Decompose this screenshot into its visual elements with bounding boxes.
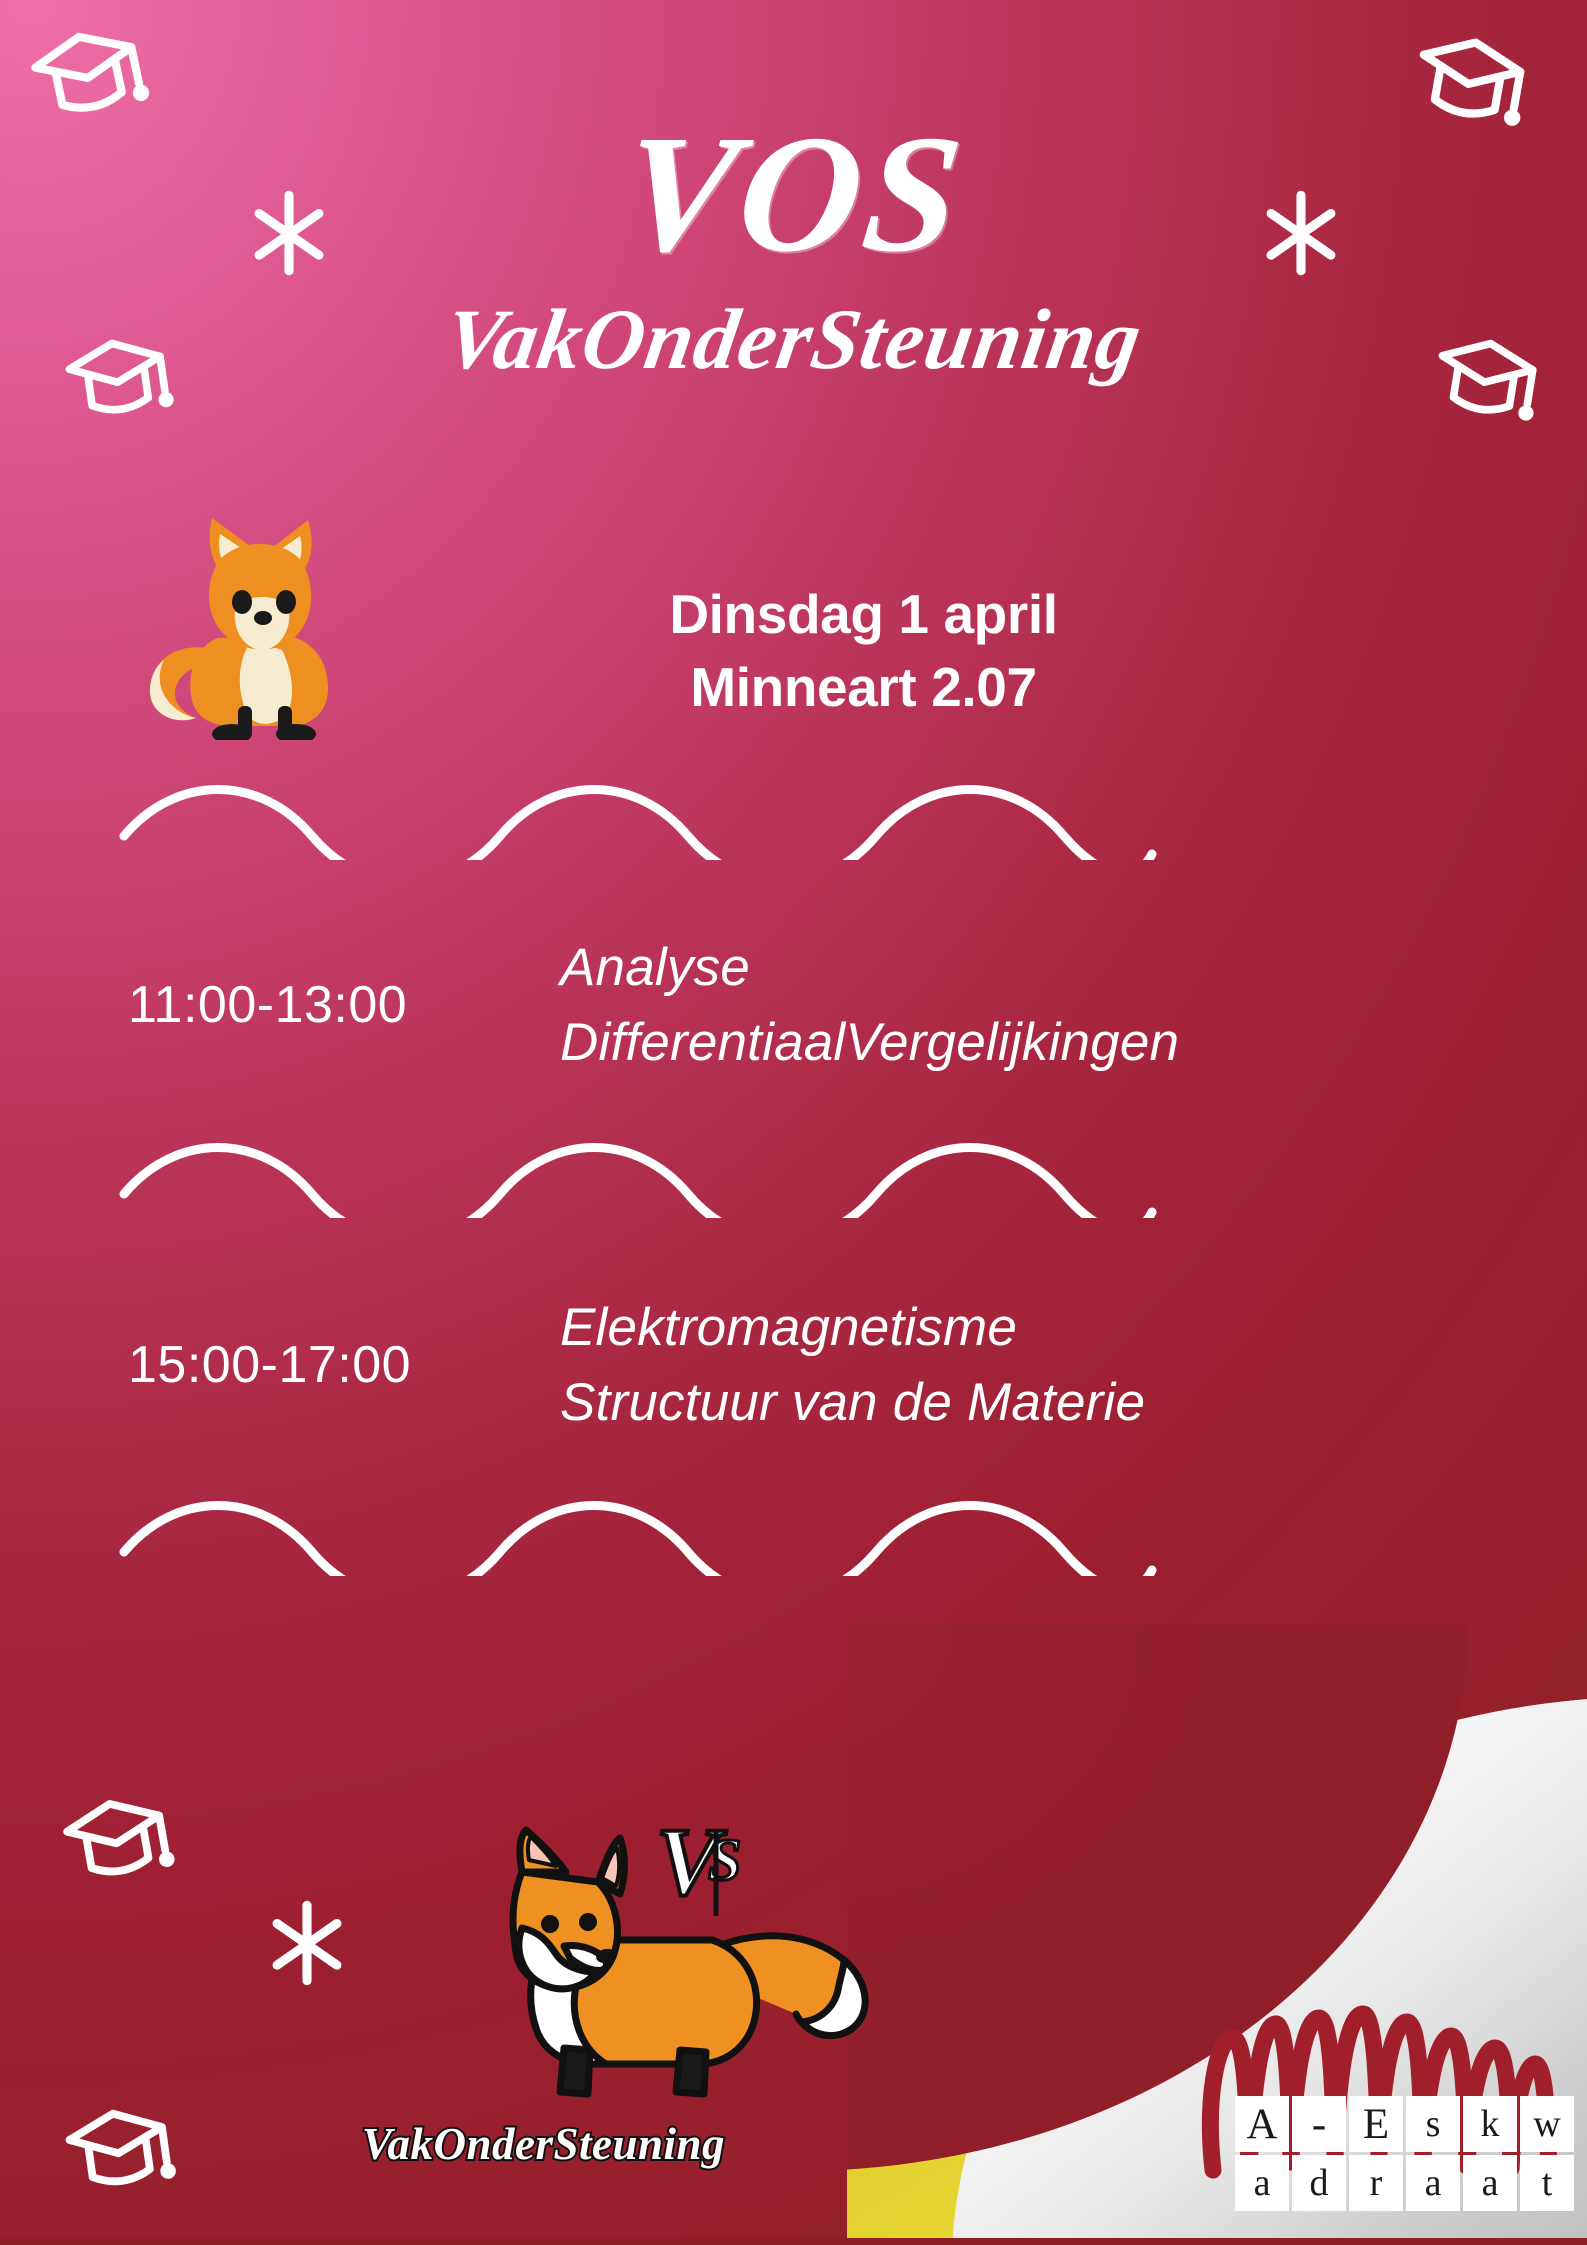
course-name: Elektromagnetisme	[560, 1290, 1587, 1365]
brand-title: VOS	[0, 110, 1587, 278]
schedule-row: 15:00-17:00 Elektromagnetisme Structuur …	[0, 1290, 1587, 1441]
event-date: Dinsdag 1 april	[140, 578, 1587, 651]
schedule-courses: Elektromagnetisme Structuur van de Mater…	[560, 1290, 1587, 1441]
event-when-block: Dinsdag 1 april Minneart 2.07	[0, 578, 1587, 723]
wave-divider-icon	[118, 1136, 1158, 1218]
course-name: Structuur van de Materie	[560, 1365, 1587, 1440]
event-location: Minneart 2.07	[140, 651, 1587, 724]
sparkle-star-icon	[268, 1900, 346, 1986]
footer-fox-logo: V S	[430, 1820, 880, 2115]
logo-tile: a	[1235, 2155, 1289, 2211]
svg-text:S: S	[708, 1827, 741, 1893]
bottom-edge-strip	[0, 2238, 1587, 2245]
logo-tile: A	[1235, 2096, 1289, 2152]
wave-divider-icon	[118, 1494, 1158, 1576]
schedule-time: 15:00-17:00	[0, 1335, 560, 1395]
footer-logo-text: VakOnderSteuning	[260, 2118, 827, 2170]
poster-headline: VOS VakOnderSteuning	[0, 110, 1587, 382]
schedule-time: 11:00-13:00	[0, 975, 560, 1035]
logo-tile: t	[1520, 2155, 1574, 2211]
logo-tile-row: A - E s k w	[1235, 2096, 1574, 2152]
course-name: Analyse	[560, 930, 1587, 1005]
logo-tile: k	[1463, 2096, 1517, 2152]
logo-tile: -	[1292, 2096, 1346, 2152]
brand-subtitle: VakOnderSteuning	[0, 296, 1587, 382]
logo-tile: w	[1520, 2096, 1574, 2152]
logo-tile: E	[1349, 2096, 1403, 2152]
logo-letter-tiles: A - E s k w a d r a a t	[1235, 2096, 1574, 2211]
wave-divider-icon	[118, 778, 1158, 860]
association-logo: A - E s k w a d r a a t	[1191, 2002, 1561, 2237]
graduation-cap-icon	[52, 1781, 180, 1899]
schedule-row: 11:00-13:00 Analyse DifferentiaalVergeli…	[0, 930, 1587, 1081]
logo-tile: a	[1463, 2155, 1517, 2211]
logo-tile-row: a d r a a t	[1235, 2155, 1574, 2211]
logo-tile: d	[1292, 2155, 1346, 2211]
schedule-courses: Analyse DifferentiaalVergelijkingen	[560, 930, 1587, 1081]
poster-canvas: VOS VakOnderSteuning	[0, 0, 1587, 2245]
course-name: DifferentiaalVergelijkingen	[560, 1005, 1587, 1080]
logo-tile: a	[1406, 2155, 1460, 2211]
graduation-cap-icon	[56, 2093, 181, 2208]
logo-tile: s	[1406, 2096, 1460, 2152]
logo-tile: r	[1349, 2155, 1403, 2211]
